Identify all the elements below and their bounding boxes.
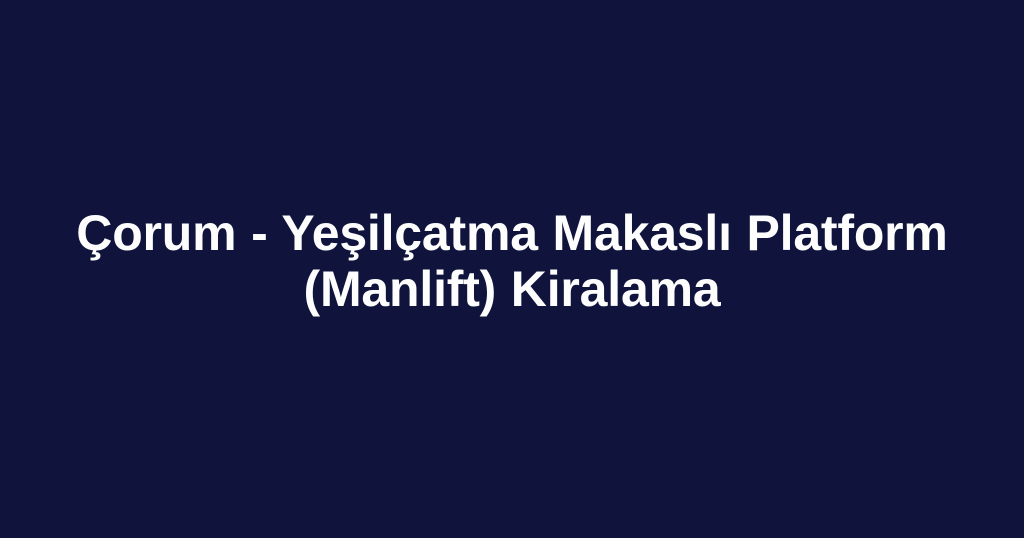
title-block: Çorum - Yeşilçatma Makaslı Platform (Man… — [0, 205, 1024, 317]
page-title-line-2: (Manlift) Kiralama — [24, 261, 1000, 317]
page-title: Çorum - Yeşilçatma Makaslı Platform (Man… — [24, 205, 1000, 317]
banner-container: Çorum - Yeşilçatma Makaslı Platform (Man… — [0, 0, 1024, 538]
page-title-line-1: Çorum - Yeşilçatma Makaslı Platform — [24, 205, 1000, 261]
